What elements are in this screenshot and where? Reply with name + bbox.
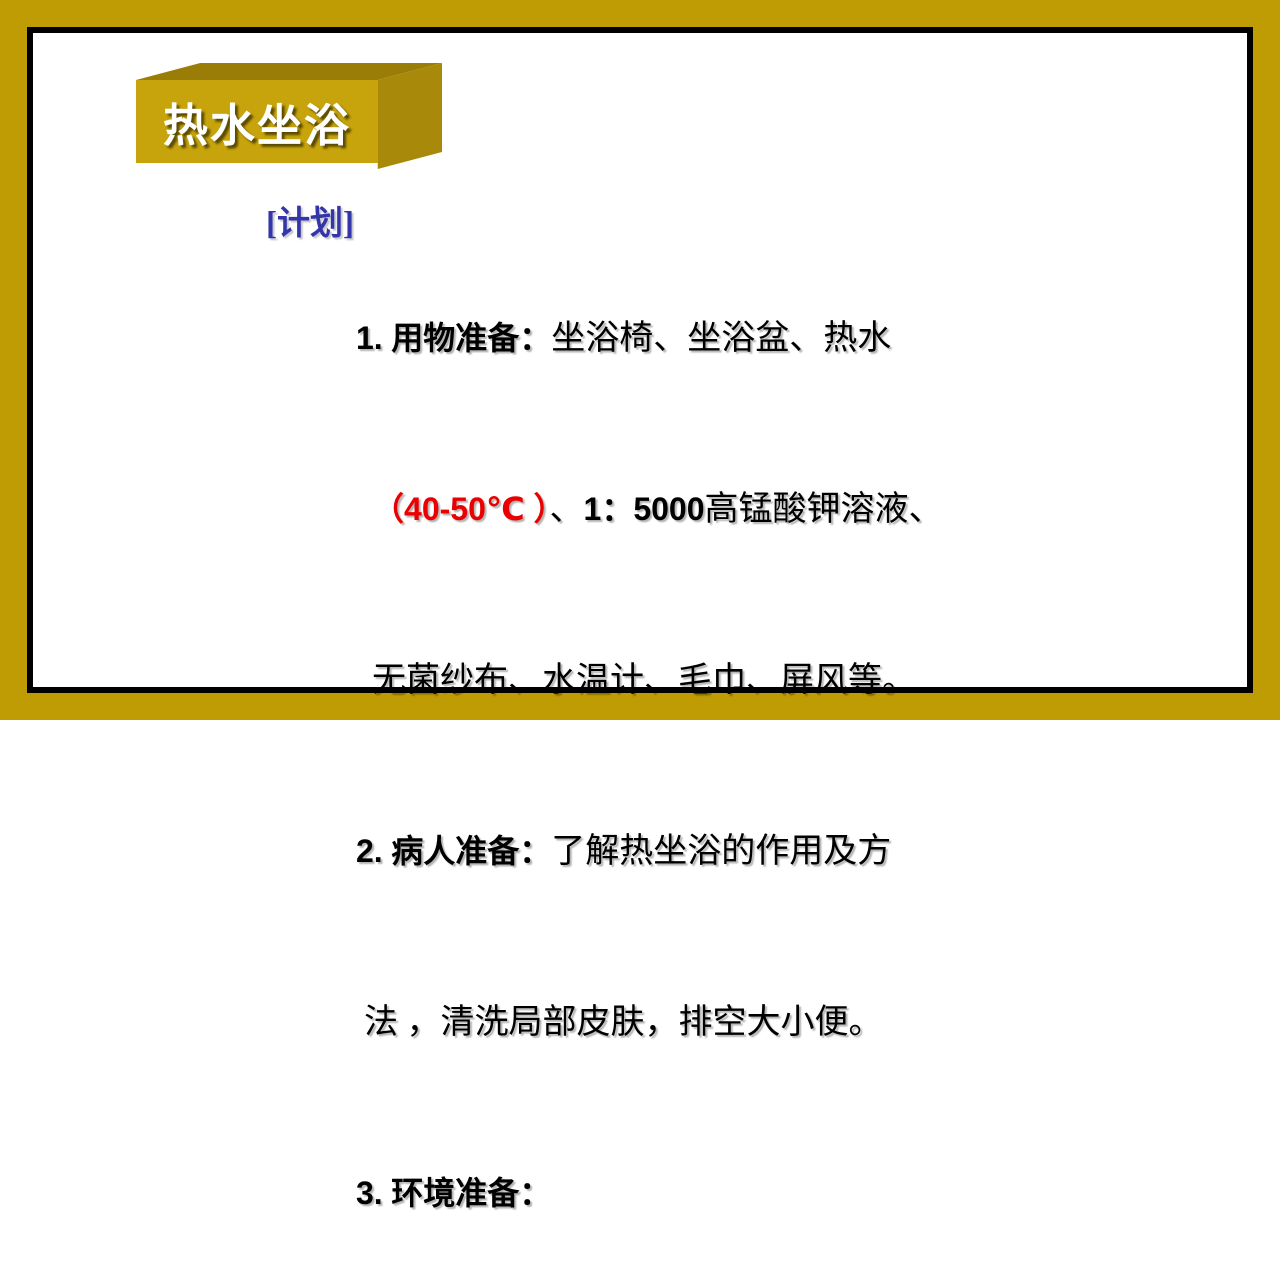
body-line-3: 无菌纱布、水温计、毛巾、屏风等。 (266, 595, 1226, 766)
temperature-value: 40-50℃ (404, 491, 525, 527)
patient-prep-text: 法 ，清洗局部皮肤，排空大小便。 (364, 1004, 883, 1041)
supplies-text: 无菌纱布、水温计、毛巾、屏风等。 (372, 662, 916, 699)
body-line-2: （40-50℃ ）、1：5000高锰酸钾溶液、 (266, 424, 1226, 595)
slide-content-frame: 热水坐浴 [计划] 1. 用物准备：坐浴椅、坐浴盆、热水 （40-50℃ ）、1… (27, 27, 1253, 693)
title-banner: 热水坐浴 (136, 63, 442, 169)
body-line-1: 1. 用物准备：坐浴椅、坐浴盆、热水 (266, 253, 1226, 424)
slide-body: [计划] 1. 用物准备：坐浴椅、坐浴盆、热水 （40-50℃ ）、1：5000… (266, 201, 1226, 1279)
slide-title: 热水坐浴 (136, 80, 378, 163)
body-line-6: 3. 环境准备： (266, 1108, 1226, 1279)
list-number-1: 1. (356, 320, 383, 356)
body-line-5: 法 ，清洗局部皮肤，排空大小便。 (266, 937, 1226, 1108)
section-heading: [计划] (266, 201, 1226, 247)
slide-root: 热水坐浴 [计划] 1. 用物准备：坐浴椅、坐浴盆、热水 （40-50℃ ）、1… (0, 0, 1280, 720)
separator-mark: 、 (550, 491, 584, 528)
list-number-2: 2. (356, 833, 383, 869)
list-text-2: 了解热坐浴的作用及方 (551, 833, 891, 870)
list-label-1: 用物准备： (391, 320, 551, 356)
list-label-3: 环境准备： (391, 1175, 551, 1211)
list-number-3: 3. (356, 1175, 383, 1211)
body-line-4: 2. 病人准备：了解热坐浴的作用及方 (266, 766, 1226, 937)
paren-open: （ (372, 491, 404, 527)
list-text-1: 坐浴椅、坐浴盆、热水 (551, 320, 891, 357)
ratio-value: 1：5000 (584, 491, 705, 527)
paren-close: ） (525, 491, 550, 527)
solution-name: 高锰酸钾溶液、 (705, 491, 943, 528)
list-label-2: 病人准备： (391, 833, 551, 869)
